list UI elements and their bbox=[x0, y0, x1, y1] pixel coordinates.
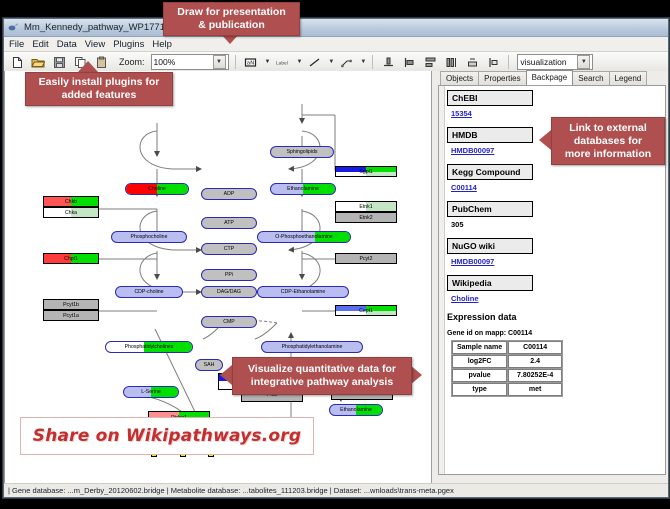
node-choline-top[interactable]: Choline bbox=[125, 183, 189, 195]
link-kegg[interactable]: C00114 bbox=[451, 183, 663, 192]
tab-objects[interactable]: Objects bbox=[440, 71, 479, 85]
label-icon[interactable]: Label bbox=[273, 53, 291, 71]
arrow-dropdown[interactable]: ▼ bbox=[360, 59, 366, 65]
cell-value: 2.4 bbox=[508, 355, 562, 368]
visualization-value: visualization bbox=[520, 57, 577, 67]
node-label: SAH bbox=[204, 362, 215, 368]
tab-legend[interactable]: Legend bbox=[609, 71, 648, 85]
toolbar-separator-2 bbox=[372, 55, 373, 69]
backpage-vscrollbar[interactable] bbox=[439, 86, 445, 474]
cell-value: 7.80252E-4 bbox=[508, 369, 562, 382]
cell-key: log2FC bbox=[452, 355, 507, 368]
expression-data-header: Expression data bbox=[447, 312, 663, 322]
annotation-draw: Draw for presentation & publication bbox=[163, 2, 300, 36]
node-sphingolipids[interactable]: Sphingolipids bbox=[270, 146, 334, 158]
annotation-links-line1: Link to external bbox=[565, 122, 651, 135]
menu-bar: File Edit Data View Plugins Help bbox=[4, 37, 668, 52]
node-label: Etnk2 bbox=[359, 215, 372, 221]
node-sah[interactable]: SAH bbox=[195, 359, 223, 371]
node-label: Ethanolamine bbox=[287, 186, 319, 192]
node-etnk2[interactable]: Etnk2 bbox=[335, 212, 397, 223]
node-ethanolamine-top[interactable]: Ethanolamine bbox=[270, 183, 336, 195]
node-ppi[interactable]: PPi bbox=[201, 269, 257, 281]
annotation-plugins-line1: Easily install plugins for bbox=[39, 76, 160, 89]
tab-backpage[interactable]: Backpage bbox=[526, 70, 574, 85]
gene-id-line: Gene id on mapp: C00114 bbox=[447, 330, 663, 337]
node-phosphocholine[interactable]: Phosphocholine bbox=[111, 231, 187, 243]
stack-icon[interactable] bbox=[463, 53, 481, 71]
field-hmdb-label: HMDB bbox=[447, 127, 533, 143]
annotation-visualize-line2: integrative pathway analysis bbox=[248, 376, 396, 389]
annotation-draw-line1: Draw for presentation bbox=[177, 6, 286, 19]
menu-view[interactable]: View bbox=[85, 39, 105, 50]
datanode-dropdown[interactable]: ▼ bbox=[265, 59, 271, 65]
node-label: L-Serine bbox=[141, 389, 161, 395]
annotation-links-arrow bbox=[539, 130, 551, 150]
menu-help[interactable]: Help bbox=[152, 39, 172, 50]
node-label: ATP bbox=[224, 220, 234, 226]
pathvisio-app-icon bbox=[8, 22, 19, 33]
node-atp[interactable]: ATP bbox=[201, 217, 257, 229]
node-label: Pcyt1a bbox=[63, 313, 79, 319]
annotation-share-text: Share on Wikipathways.org bbox=[33, 426, 301, 446]
side-panel-tabs: Objects Properties Backpage Search Legen… bbox=[434, 71, 666, 85]
cell-value: C00114 bbox=[508, 341, 562, 354]
node-phosphatidylcholines[interactable]: Phosphatidylcholines bbox=[105, 341, 193, 353]
node-l-serine-left[interactable]: L-Serine bbox=[123, 386, 179, 398]
node-label: Pcyt2 bbox=[360, 256, 373, 262]
zoom-label: Zoom: bbox=[119, 57, 145, 67]
field-pubchem-label: PubChem bbox=[447, 201, 533, 217]
annotation-plugins-line2: added features bbox=[39, 89, 160, 102]
node-label: DAG/DAG bbox=[217, 289, 241, 295]
node-pcyt1a[interactable]: Pcyt1a bbox=[43, 310, 99, 321]
node-label: Chkb bbox=[65, 199, 77, 205]
cell-key: pvalue bbox=[452, 369, 507, 382]
pathway-canvas[interactable]: Sphingolipids Choline Ethanolamine ADP bbox=[5, 71, 431, 474]
visualization-select[interactable]: visualization ▼ bbox=[517, 54, 593, 70]
node-label: Cept1 bbox=[359, 308, 373, 314]
cell-key: Sample name bbox=[452, 341, 507, 354]
menu-file[interactable]: File bbox=[9, 39, 24, 50]
node-label: CTP bbox=[224, 246, 234, 252]
table-row: type met bbox=[452, 383, 562, 396]
table-row: pvalue 7.80252E-4 bbox=[452, 369, 562, 382]
node-label: Ethanolamine bbox=[340, 407, 372, 413]
field-nugowiki-label: NuGO wiki bbox=[447, 238, 533, 254]
new-icon[interactable] bbox=[8, 53, 26, 71]
annotation-visualize: Visualize quantitative data for integrat… bbox=[232, 357, 412, 395]
node-label: PPi bbox=[225, 272, 233, 278]
value-pubchem: 305 bbox=[451, 220, 663, 229]
link-wikipedia[interactable]: Choline bbox=[451, 294, 663, 303]
screenshot-root: Mm_Kennedy_pathway_WP1771_45176.gpml Fil… bbox=[0, 0, 670, 509]
node-label: CDP-choline bbox=[134, 289, 163, 295]
chevron-down-icon[interactable]: ▼ bbox=[213, 55, 226, 69]
node-sgpl1[interactable]: Sgpl1 bbox=[335, 166, 397, 177]
toolbar-separator-3 bbox=[508, 55, 509, 69]
menu-plugins[interactable]: Plugins bbox=[113, 39, 144, 50]
zoom-value: 100% bbox=[154, 57, 213, 67]
zoom-select[interactable]: 100% ▼ bbox=[151, 54, 229, 70]
node-label: Chka bbox=[65, 210, 77, 216]
svg-text:aN: aN bbox=[247, 60, 255, 66]
node-pcyt1b[interactable]: Pcyt1b bbox=[43, 299, 99, 310]
cell-value: met bbox=[508, 383, 562, 396]
field-kegg-label: Kegg Compound bbox=[447, 164, 533, 180]
annotation-draw-line2: & publication bbox=[177, 19, 286, 32]
status-bar: | Gene database: ...m_Derby_20120602.bri… bbox=[4, 483, 668, 497]
expression-table: Sample name C00114 log2FC 2.4 pvalue 7.8… bbox=[451, 340, 563, 397]
annotation-visualize-arrow-left bbox=[220, 365, 232, 385]
toolbar-separator bbox=[235, 55, 236, 69]
datanode-icon[interactable]: aN bbox=[242, 53, 260, 71]
node-ctp[interactable]: CTP bbox=[201, 243, 257, 255]
anchor-icon[interactable] bbox=[337, 53, 355, 71]
menu-edit[interactable]: Edit bbox=[32, 39, 48, 50]
status-text: | Gene database: ...m_Derby_20120602.bri… bbox=[8, 486, 454, 495]
size-icon[interactable] bbox=[442, 53, 460, 71]
annotation-plugins-arrow bbox=[78, 61, 98, 72]
annotation-links-line3: more information bbox=[565, 148, 651, 161]
align-top-icon[interactable] bbox=[379, 53, 397, 71]
table-row: log2FC 2.4 bbox=[452, 355, 562, 368]
field-chebi-label: ChEBI bbox=[447, 90, 533, 106]
window-titlebar: Mm_Kennedy_pathway_WP1771_45176.gpml bbox=[4, 19, 668, 37]
save-icon[interactable] bbox=[50, 53, 68, 71]
node-label: Phosphocholine bbox=[131, 234, 168, 240]
link-nugowiki[interactable]: HMDB00097 bbox=[451, 257, 663, 266]
node-cmp[interactable]: CMP bbox=[201, 316, 257, 328]
tab-search[interactable]: Search bbox=[572, 71, 609, 85]
node-ethanolamine-bottom[interactable]: Ethanolamine bbox=[329, 404, 383, 416]
chevron-down-icon-2[interactable]: ▼ bbox=[577, 55, 590, 69]
annotation-share: Share on Wikipathways.org bbox=[20, 417, 314, 455]
annotation-links: Link to external databases for more info… bbox=[551, 117, 665, 165]
node-phosphatidylethanolamine[interactable]: Phosphatidylethanolamine bbox=[261, 341, 363, 353]
node-label: Chpt1 bbox=[64, 256, 78, 262]
distribute-icon[interactable] bbox=[421, 53, 439, 71]
menu-data[interactable]: Data bbox=[57, 39, 77, 50]
node-label: O-Phosphoethanolamine bbox=[275, 234, 332, 240]
field-wikipedia-label: Wikipedia bbox=[447, 275, 533, 291]
node-adp[interactable]: ADP bbox=[201, 188, 257, 200]
node-label: Sgpl1 bbox=[359, 169, 372, 175]
table-row: Sample name C00114 bbox=[452, 341, 562, 354]
group-icon[interactable] bbox=[484, 53, 502, 71]
cell-key: type bbox=[452, 383, 507, 396]
annotation-plugins: Easily install plugins for added feature… bbox=[25, 72, 173, 106]
node-dag[interactable]: DAG/DAG bbox=[201, 286, 257, 298]
node-cdp-choline[interactable]: CDP-choline bbox=[115, 286, 183, 298]
node-o-phosphoethanolamine[interactable]: O-Phosphoethanolamine bbox=[257, 231, 351, 243]
node-label: Sphingolipids bbox=[287, 149, 318, 155]
node-label: CDP-Ethanolamine bbox=[281, 289, 325, 295]
node-label: CMP bbox=[223, 319, 235, 325]
annotation-visualize-line1: Visualize quantitative data for bbox=[248, 363, 396, 376]
node-cept1[interactable]: Cept1 bbox=[335, 305, 397, 316]
node-label: Pcyt1b bbox=[63, 302, 79, 308]
node-chka[interactable]: Chka bbox=[43, 207, 99, 218]
node-cdp-ethanolamine[interactable]: CDP-Ethanolamine bbox=[257, 286, 349, 298]
tab-properties[interactable]: Properties bbox=[478, 71, 526, 85]
line-icon[interactable] bbox=[305, 53, 323, 71]
node-label: Phosphatidylcholines bbox=[125, 344, 174, 350]
node-label: Choline bbox=[148, 186, 166, 192]
node-etnk1[interactable]: Etnk1 bbox=[335, 201, 397, 212]
node-label: ADP bbox=[224, 191, 235, 197]
node-label: Phosphatidylethanolamine bbox=[282, 344, 343, 350]
align-left-icon[interactable] bbox=[400, 53, 418, 71]
node-chkb[interactable]: Chkb bbox=[43, 196, 99, 207]
line-dropdown[interactable]: ▼ bbox=[328, 59, 334, 65]
label-dropdown[interactable]: ▼ bbox=[296, 59, 302, 65]
annotation-links-line2: databases for bbox=[565, 135, 651, 148]
svg-text:Label: Label bbox=[276, 60, 288, 66]
node-pcyt2[interactable]: Pcyt2 bbox=[335, 253, 397, 264]
node-chpt1[interactable]: Chpt1 bbox=[43, 253, 99, 264]
node-label: Etnk1 bbox=[359, 204, 372, 210]
open-icon[interactable] bbox=[29, 53, 47, 71]
